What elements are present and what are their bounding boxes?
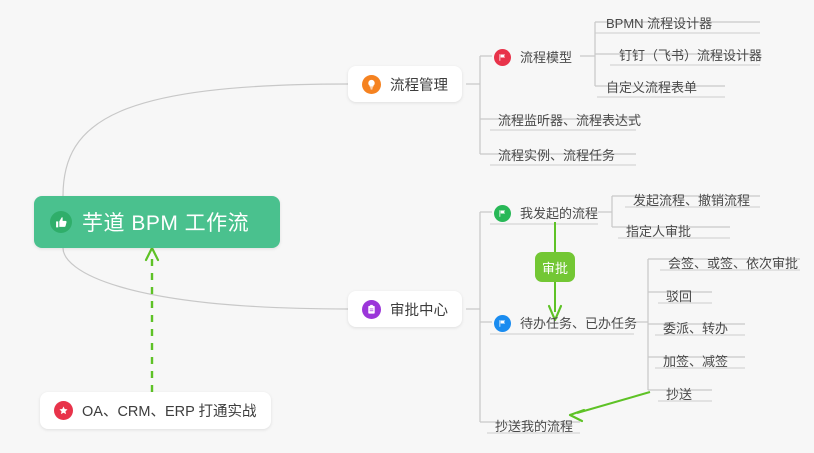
root-label: 芋道 BPM 工作流	[82, 207, 249, 237]
leaf-cc-to-me[interactable]: 抄送我的流程	[489, 414, 579, 440]
leaf-dingtalk-designer-label: 钉钉（飞书）流程设计器	[619, 48, 762, 63]
node-process-model-label: 流程模型	[520, 49, 572, 66]
leaf-bpmn-designer-label: BPMN 流程设计器	[606, 16, 712, 31]
node-process-model[interactable]: 流程模型	[490, 45, 578, 71]
leaf-reject[interactable]: 驳回	[660, 284, 698, 310]
branch-approval-center[interactable]: 审批中心	[348, 291, 462, 327]
branch-process-management-label: 流程管理	[390, 74, 448, 95]
flag-icon	[494, 49, 511, 66]
star-icon	[54, 401, 73, 420]
leaf-reject-label: 驳回	[666, 289, 692, 304]
leaf-process-instance[interactable]: 流程实例、流程任务	[492, 143, 621, 169]
leaf-start-cancel-process[interactable]: 发起流程、撤销流程	[627, 188, 756, 214]
leaf-delegate-transfer[interactable]: 委派、转办	[657, 316, 734, 342]
leaf-cc[interactable]: 抄送	[660, 382, 698, 408]
leaf-custom-form-label: 自定义流程表单	[606, 80, 697, 95]
leaf-countersign[interactable]: 会签、或签、依次审批	[662, 251, 804, 277]
mindmap-canvas: 芋道 BPM 工作流 流程管理 流程模型 BPMN 流程设计器 钉钉（飞书）流程…	[0, 0, 814, 453]
leaf-start-cancel-process-label: 发起流程、撤销流程	[633, 193, 750, 208]
leaf-dingtalk-designer[interactable]: 钉钉（飞书）流程设计器	[613, 43, 768, 69]
node-todo-done-tasks[interactable]: 待办任务、已办任务	[490, 311, 643, 337]
leaf-cc-to-me-label: 抄送我的流程	[495, 419, 573, 434]
leaf-designated-approver[interactable]: 指定人审批	[620, 219, 697, 245]
leaf-delegate-transfer-label: 委派、转办	[663, 321, 728, 336]
leaf-add-remove-sign[interactable]: 加签、减签	[657, 349, 734, 375]
leaf-cc-label: 抄送	[666, 387, 692, 402]
leaf-bpmn-designer[interactable]: BPMN 流程设计器	[600, 11, 718, 37]
flag-icon	[494, 315, 511, 332]
lightbulb-icon	[362, 75, 381, 94]
leaf-designated-approver-label: 指定人审批	[626, 224, 691, 239]
node-todo-done-tasks-label: 待办任务、已办任务	[520, 315, 637, 332]
leaf-process-listener[interactable]: 流程监听器、流程表达式	[492, 108, 647, 134]
node-my-initiated[interactable]: 我发起的流程	[490, 201, 604, 227]
leaf-add-remove-sign-label: 加签、减签	[663, 354, 728, 369]
clipboard-icon	[362, 300, 381, 319]
root-node[interactable]: 芋道 BPM 工作流	[34, 196, 280, 248]
annotation-approval-text: 审批	[542, 258, 568, 277]
thumbs-up-icon	[50, 211, 72, 233]
flag-icon	[494, 205, 511, 222]
leaf-process-instance-label: 流程实例、流程任务	[498, 148, 615, 163]
annotation-integration-note-label: OA、CRM、ERP 打通实战	[82, 400, 257, 421]
annotation-integration-note[interactable]: OA、CRM、ERP 打通实战	[40, 392, 271, 429]
branch-approval-center-label: 审批中心	[390, 299, 448, 320]
cc-flow-arrow	[570, 392, 650, 421]
branch-process-management[interactable]: 流程管理	[348, 66, 462, 102]
annotation-approval-label: 审批	[535, 252, 575, 282]
leaf-process-listener-label: 流程监听器、流程表达式	[498, 113, 641, 128]
integration-note-arrow	[146, 248, 158, 392]
leaf-countersign-label: 会签、或签、依次审批	[668, 256, 798, 271]
leaf-custom-form[interactable]: 自定义流程表单	[600, 75, 703, 101]
node-my-initiated-label: 我发起的流程	[520, 205, 598, 222]
